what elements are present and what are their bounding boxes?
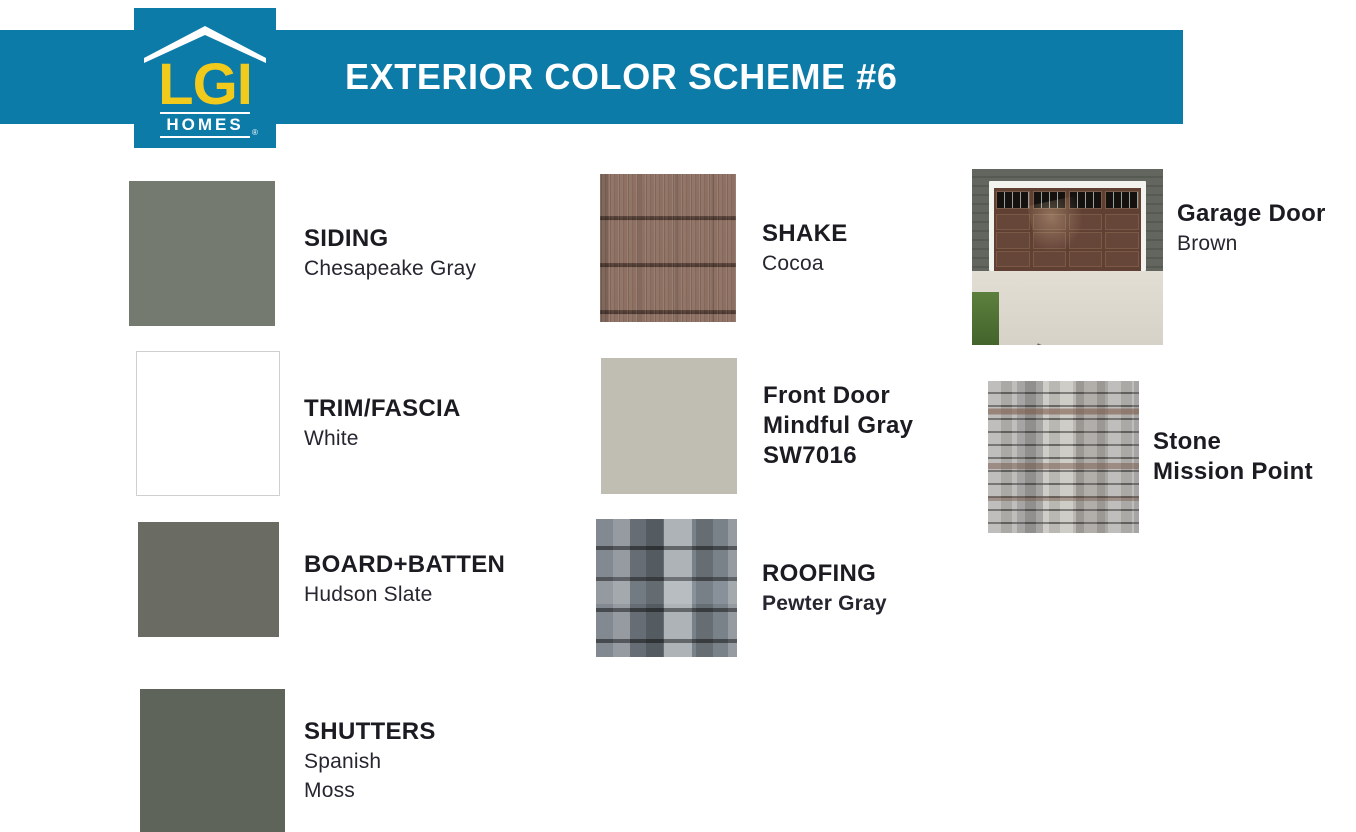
registered-mark-icon: ® — [252, 128, 258, 137]
logo-rule-bottom — [160, 136, 250, 138]
garage-driveway — [972, 271, 1163, 345]
garage-lawn — [972, 292, 999, 345]
swatch-stone — [988, 381, 1139, 533]
color-name-shutters: Spanish — [304, 747, 436, 776]
garage-panel — [1105, 232, 1139, 248]
swatch-shake — [600, 174, 736, 322]
category-label-shake: SHAKE — [762, 219, 848, 249]
swatch-siding — [129, 181, 275, 326]
category-label-trim-fascia: TRIM/FASCIA — [304, 394, 461, 424]
swatch-entry-garage-door: Garage Door Brown — [972, 169, 1326, 345]
swatch-roofing — [596, 519, 737, 657]
swatch-entry-trim-fascia: TRIM/FASCIA White — [136, 351, 461, 496]
logo-wordmark: LGI — [134, 56, 276, 114]
swatch-board-batten — [138, 522, 279, 637]
swatch-entry-siding: SIDING Chesapeake Gray — [129, 181, 476, 326]
swatch-entry-shake: SHAKE Cocoa — [600, 174, 848, 322]
swatch-entry-front-door: Front Door Mindful Gray SW7016 — [601, 358, 913, 494]
garage-panel — [1105, 251, 1139, 267]
garage-window — [1105, 191, 1139, 209]
garage-panel — [996, 251, 1030, 267]
swatch-shutters — [140, 689, 285, 832]
color-name-roofing: Pewter Gray — [762, 589, 887, 618]
lgi-homes-logo: LGI HOMES ® — [134, 8, 276, 148]
garage-panel — [996, 214, 1030, 230]
color-name-siding: Chesapeake Gray — [304, 254, 476, 283]
color-name-stone: Mission Point — [1153, 457, 1313, 487]
logo-rule-top — [160, 112, 250, 114]
garage-panel-row — [996, 251, 1139, 267]
garage-panel — [996, 232, 1030, 248]
garage-window — [996, 191, 1030, 209]
color-name-shake: Cocoa — [762, 249, 848, 278]
color-name-trim-fascia: White — [304, 424, 461, 453]
swatch-garage-door — [972, 169, 1163, 345]
swatch-entry-stone: Stone Mission Point — [988, 381, 1313, 533]
swatch-trim-fascia — [136, 351, 280, 496]
swatch-front-door — [601, 358, 737, 494]
category-label-roofing: ROOFING — [762, 559, 887, 589]
color-code-front-door: SW7016 — [763, 441, 913, 471]
swatch-entry-board-batten: BOARD+BATTEN Hudson Slate — [138, 522, 505, 637]
garage-panel — [1069, 251, 1103, 267]
category-label-board-batten: BOARD+BATTEN — [304, 550, 505, 580]
color-name-board-batten: Hudson Slate — [304, 580, 505, 609]
color-name-garage-door: Brown — [1177, 229, 1326, 258]
swatch-entry-shutters: SHUTTERS Spanish Moss — [140, 689, 436, 832]
garage-panel — [1105, 214, 1139, 230]
color-name-front-door: Mindful Gray — [763, 411, 913, 441]
swatch-entry-roofing: ROOFING Pewter Gray — [596, 519, 887, 657]
garage-light-reflection — [1027, 195, 1089, 256]
category-label-garage-door: Garage Door — [1177, 199, 1326, 229]
page-title: EXTERIOR COLOR SCHEME #6 — [345, 30, 897, 124]
category-label-siding: SIDING — [304, 224, 476, 254]
category-label-front-door: Front Door — [763, 381, 913, 411]
garage-door-panel-group — [994, 188, 1141, 271]
category-label-stone: Stone — [1153, 427, 1313, 457]
category-label-shutters: SHUTTERS — [304, 717, 436, 747]
color-name-shutters-line2: Moss — [304, 776, 436, 805]
